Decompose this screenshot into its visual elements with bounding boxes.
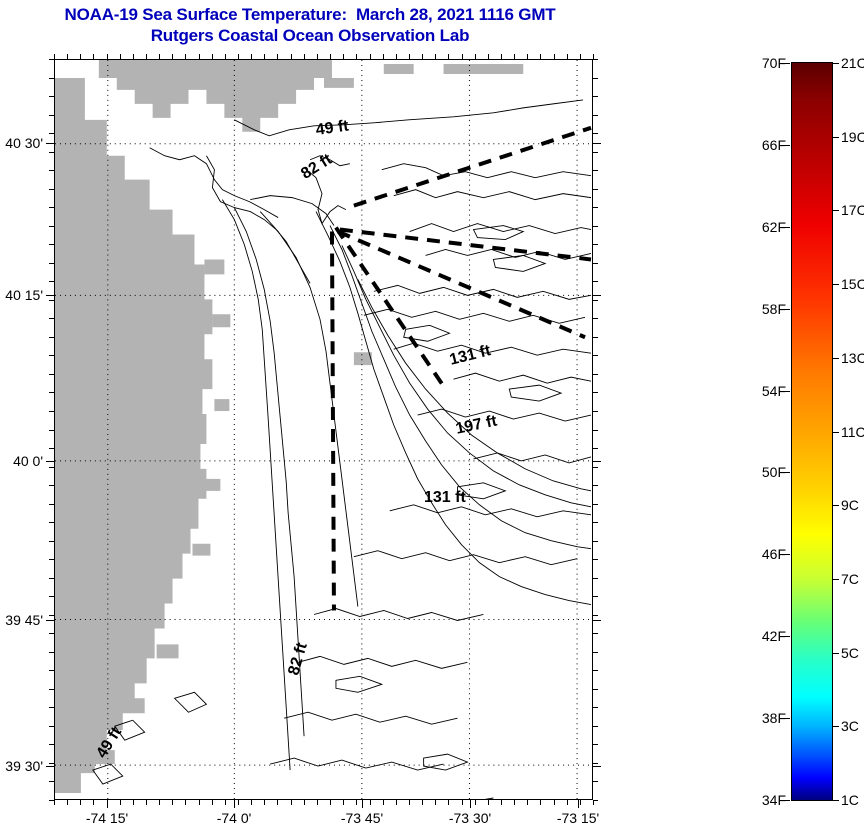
x-axis-tick — [146, 54, 147, 59]
y-axis-tick — [49, 559, 54, 560]
y-axis-tick — [49, 485, 54, 486]
x-axis-tick — [580, 54, 581, 59]
y-axis-label: 40 0' — [0, 453, 43, 469]
x-axis-tick — [356, 54, 357, 59]
y-axis-major-tick — [593, 766, 601, 767]
x-axis-tick — [383, 54, 384, 59]
colorbar-label-celsius: 9C — [841, 497, 859, 513]
y-axis-tick — [49, 707, 54, 708]
x-axis-tick — [540, 800, 541, 805]
x-axis-tick — [383, 800, 384, 805]
y-axis-tick — [593, 707, 598, 708]
y-axis-tick — [593, 467, 598, 468]
colorbar-tick-celsius — [833, 800, 839, 801]
colorbar-tick-celsius — [833, 653, 839, 654]
x-axis-tick — [422, 54, 423, 59]
x-axis-tick — [93, 54, 94, 59]
x-axis-tick — [317, 54, 318, 59]
x-axis-tick — [146, 800, 147, 805]
y-axis-major-tick — [46, 620, 54, 621]
x-axis-tick — [80, 54, 81, 59]
colorbar-label-celsius: 11C — [841, 424, 864, 440]
x-axis-tick — [251, 54, 252, 59]
y-axis-tick — [593, 763, 598, 764]
colorbar-label-celsius: 7C — [841, 571, 859, 587]
x-axis-tick — [422, 800, 423, 805]
y-axis-tick — [49, 726, 54, 727]
x-axis-tick — [80, 800, 81, 805]
colorbar-gradient — [791, 62, 833, 801]
x-axis-tick — [488, 800, 489, 805]
y-axis-tick — [593, 578, 598, 579]
colorbar-tick-celsius — [833, 358, 839, 359]
y-axis-tick — [49, 615, 54, 616]
y-axis-tick — [49, 596, 54, 597]
y-axis-major-tick — [593, 461, 601, 462]
y-axis-tick — [593, 355, 598, 356]
x-axis-tick — [501, 800, 502, 805]
x-axis-tick — [330, 54, 331, 59]
y-axis-major-tick — [46, 461, 54, 462]
y-axis-tick — [49, 392, 54, 393]
y-axis-tick — [49, 318, 54, 319]
x-axis-tick — [277, 54, 278, 59]
x-axis-tick — [291, 800, 292, 805]
y-axis-tick — [49, 763, 54, 764]
colorbar-label-fahrenheit: 46F — [746, 546, 786, 562]
y-axis-tick — [593, 189, 598, 190]
colorbar-tick-celsius — [833, 726, 839, 727]
y-axis-tick — [49, 448, 54, 449]
y-axis-tick — [593, 559, 598, 560]
colorbar-tick-celsius — [833, 210, 839, 211]
page-title: NOAA-19 Sea Surface Temperature: March 2… — [0, 4, 620, 46]
y-axis-tick — [593, 263, 598, 264]
title-line-1: NOAA-19 Sea Surface Temperature: March 2… — [0, 4, 620, 25]
x-axis-tick — [67, 800, 68, 805]
y-axis-tick — [593, 115, 598, 116]
x-axis-tick — [343, 54, 344, 59]
y-axis-tick — [49, 189, 54, 190]
y-axis-tick — [593, 300, 598, 301]
x-axis-tick — [448, 800, 449, 805]
x-axis-tick — [501, 54, 502, 59]
y-axis-tick — [49, 96, 54, 97]
colorbar-label-celsius: 15C — [841, 276, 864, 292]
y-axis-major-tick — [593, 620, 601, 621]
y-axis-tick — [49, 781, 54, 782]
x-axis-tick — [554, 800, 555, 805]
x-axis-tick — [67, 54, 68, 59]
x-axis-tick — [317, 800, 318, 805]
colorbar-label-celsius: 5C — [841, 645, 859, 661]
colorbar-label-fahrenheit: 58F — [746, 301, 786, 317]
depth-label: 131 ft — [424, 489, 466, 507]
y-axis-major-tick — [593, 143, 601, 144]
y-axis-tick — [49, 300, 54, 301]
x-axis-tick — [580, 800, 581, 805]
x-axis-tick — [409, 800, 410, 805]
y-axis-tick — [593, 318, 598, 319]
x-axis-tick — [554, 54, 555, 59]
x-axis-tick — [514, 800, 515, 805]
y-axis-tick — [593, 207, 598, 208]
x-axis-tick — [488, 54, 489, 59]
x-axis-major-tick — [107, 800, 108, 808]
colorbar[interactable]: 70F66F62F58F54F50F46F42F38F34F21C19C17C1… — [791, 62, 833, 801]
x-axis-tick — [304, 54, 305, 59]
y-axis-tick — [49, 355, 54, 356]
x-axis-major-tick — [578, 800, 579, 808]
colorbar-label-fahrenheit: 70F — [746, 55, 786, 71]
y-axis-tick — [593, 744, 598, 745]
x-axis-tick — [462, 800, 463, 805]
y-axis-tick — [593, 430, 598, 431]
x-axis-label: -73 15' — [557, 810, 599, 826]
x-axis-tick — [396, 800, 397, 805]
x-axis-tick — [238, 800, 239, 805]
y-axis-tick — [593, 504, 598, 505]
colorbar-label-fahrenheit: 62F — [746, 219, 786, 235]
y-axis-major-tick — [46, 766, 54, 767]
y-axis-tick — [49, 652, 54, 653]
x-axis-tick — [212, 54, 213, 59]
y-axis-tick — [49, 207, 54, 208]
x-axis-tick — [462, 54, 463, 59]
y-axis-major-tick — [46, 143, 54, 144]
y-axis-tick — [593, 781, 598, 782]
x-axis-label: -73 30' — [449, 810, 491, 826]
y-axis-label: 40 30' — [0, 135, 43, 151]
y-axis-tick — [49, 578, 54, 579]
y-axis-tick — [593, 448, 598, 449]
y-axis-tick — [593, 670, 598, 671]
x-axis-tick — [185, 54, 186, 59]
x-axis-tick — [356, 800, 357, 805]
y-axis-tick — [593, 374, 598, 375]
x-axis-tick — [238, 54, 239, 59]
x-axis-tick — [225, 800, 226, 805]
y-axis-tick — [593, 96, 598, 97]
y-axis-tick — [49, 374, 54, 375]
x-axis-tick — [172, 800, 173, 805]
x-axis-tick — [409, 54, 410, 59]
x-axis-tick — [159, 800, 160, 805]
y-axis-tick — [593, 652, 598, 653]
x-axis-tick — [475, 800, 476, 805]
y-axis-tick — [593, 281, 598, 282]
x-axis-tick — [304, 800, 305, 805]
x-axis-tick — [567, 800, 568, 805]
x-axis-tick — [527, 54, 528, 59]
x-axis-tick — [277, 800, 278, 805]
x-axis-tick — [107, 54, 108, 59]
colorbar-label-fahrenheit: 34F — [746, 792, 786, 808]
x-axis-tick — [264, 800, 265, 805]
x-axis-tick — [343, 800, 344, 805]
x-axis-tick — [435, 800, 436, 805]
y-axis-label: 39 45' — [0, 612, 43, 628]
colorbar-label-fahrenheit: 38F — [746, 710, 786, 726]
y-axis-tick — [49, 78, 54, 79]
y-axis-tick — [593, 78, 598, 79]
y-axis-tick — [49, 263, 54, 264]
y-axis-tick — [49, 170, 54, 171]
x-axis-tick — [54, 54, 55, 59]
colorbar-label-celsius: 19C — [841, 129, 864, 145]
y-axis-tick — [593, 541, 598, 542]
y-axis-tick — [49, 115, 54, 116]
y-axis-tick — [593, 244, 598, 245]
y-axis-tick — [593, 522, 598, 523]
x-axis-tick — [448, 54, 449, 59]
y-axis-tick — [49, 59, 54, 60]
y-axis-tick — [593, 392, 598, 393]
x-axis-tick — [370, 800, 371, 805]
x-axis-tick — [172, 54, 173, 59]
x-axis-tick — [159, 54, 160, 59]
y-axis-tick — [49, 430, 54, 431]
y-axis-tick — [49, 689, 54, 690]
colorbar-label-celsius: 13C — [841, 350, 864, 366]
y-axis-major-tick — [46, 295, 54, 296]
x-axis-tick — [370, 54, 371, 59]
y-axis-tick — [593, 337, 598, 338]
y-axis-tick — [593, 726, 598, 727]
y-axis-tick — [49, 281, 54, 282]
x-axis-major-tick — [470, 800, 471, 808]
y-axis-tick — [593, 800, 598, 801]
y-axis-tick — [593, 633, 598, 634]
title-line-2: Rutgers Coastal Ocean Observation Lab — [0, 25, 620, 46]
x-axis-tick — [330, 800, 331, 805]
y-axis-tick — [593, 152, 598, 153]
x-axis-tick — [212, 800, 213, 805]
colorbar-tick-celsius — [833, 63, 839, 64]
x-axis-tick — [527, 800, 528, 805]
colorbar-label-fahrenheit: 66F — [746, 137, 786, 153]
x-axis-tick — [435, 54, 436, 59]
y-axis-tick — [49, 744, 54, 745]
x-axis-label: -74 15' — [86, 810, 128, 826]
y-axis-tick — [593, 689, 598, 690]
y-axis-label: 40 15' — [0, 287, 43, 303]
y-axis-tick — [593, 170, 598, 171]
colorbar-tick-celsius — [833, 579, 839, 580]
y-axis-tick — [593, 615, 598, 616]
x-axis-tick — [133, 800, 134, 805]
y-axis-tick — [593, 411, 598, 412]
x-axis-tick — [199, 800, 200, 805]
x-axis-tick — [199, 54, 200, 59]
y-axis-tick — [49, 541, 54, 542]
x-axis-tick — [120, 800, 121, 805]
colorbar-label-celsius: 17C — [841, 202, 864, 218]
y-axis-tick — [49, 244, 54, 245]
colorbar-tick-celsius — [833, 432, 839, 433]
x-axis-tick — [251, 800, 252, 805]
x-axis-tick — [291, 54, 292, 59]
y-axis-tick — [49, 504, 54, 505]
y-axis-label: 39 30' — [0, 758, 43, 774]
y-axis-tick — [49, 633, 54, 634]
x-axis-tick — [514, 54, 515, 59]
x-axis-label: -74 0' — [217, 810, 252, 826]
colorbar-label-celsius: 21C — [841, 55, 864, 71]
x-axis-tick — [133, 54, 134, 59]
y-axis-tick — [49, 670, 54, 671]
y-axis-tick — [49, 411, 54, 412]
x-axis-major-tick — [234, 800, 235, 808]
y-axis-tick — [49, 337, 54, 338]
colorbar-tick-celsius — [833, 137, 839, 138]
y-axis-tick — [593, 485, 598, 486]
colorbar-tick-celsius — [833, 505, 839, 506]
x-axis-tick — [93, 800, 94, 805]
colorbar-label-fahrenheit: 50F — [746, 464, 786, 480]
y-axis-tick — [49, 522, 54, 523]
x-axis-tick — [264, 54, 265, 59]
y-axis-tick — [49, 467, 54, 468]
y-axis-tick — [593, 596, 598, 597]
x-axis-tick — [225, 54, 226, 59]
x-axis-tick — [567, 54, 568, 59]
y-axis-tick — [49, 152, 54, 153]
x-axis-tick — [120, 54, 121, 59]
x-axis-major-tick — [362, 800, 363, 808]
x-axis-tick — [475, 54, 476, 59]
x-axis-tick — [185, 800, 186, 805]
y-axis-major-tick — [593, 295, 601, 296]
y-axis-tick — [49, 800, 54, 801]
y-axis-tick — [593, 59, 598, 60]
x-axis-tick — [54, 800, 55, 805]
colorbar-label-fahrenheit: 54F — [746, 383, 786, 399]
x-axis-tick — [540, 54, 541, 59]
colorbar-label-fahrenheit: 42F — [746, 628, 786, 644]
y-axis-tick — [593, 133, 598, 134]
x-axis-tick — [396, 54, 397, 59]
y-axis-tick — [49, 226, 54, 227]
colorbar-tick-celsius — [833, 284, 839, 285]
colorbar-label-celsius: 1C — [841, 792, 859, 808]
y-axis-tick — [593, 226, 598, 227]
x-axis-label: -73 45' — [341, 810, 383, 826]
colorbar-label-celsius: 3C — [841, 718, 859, 734]
y-axis-tick — [49, 133, 54, 134]
